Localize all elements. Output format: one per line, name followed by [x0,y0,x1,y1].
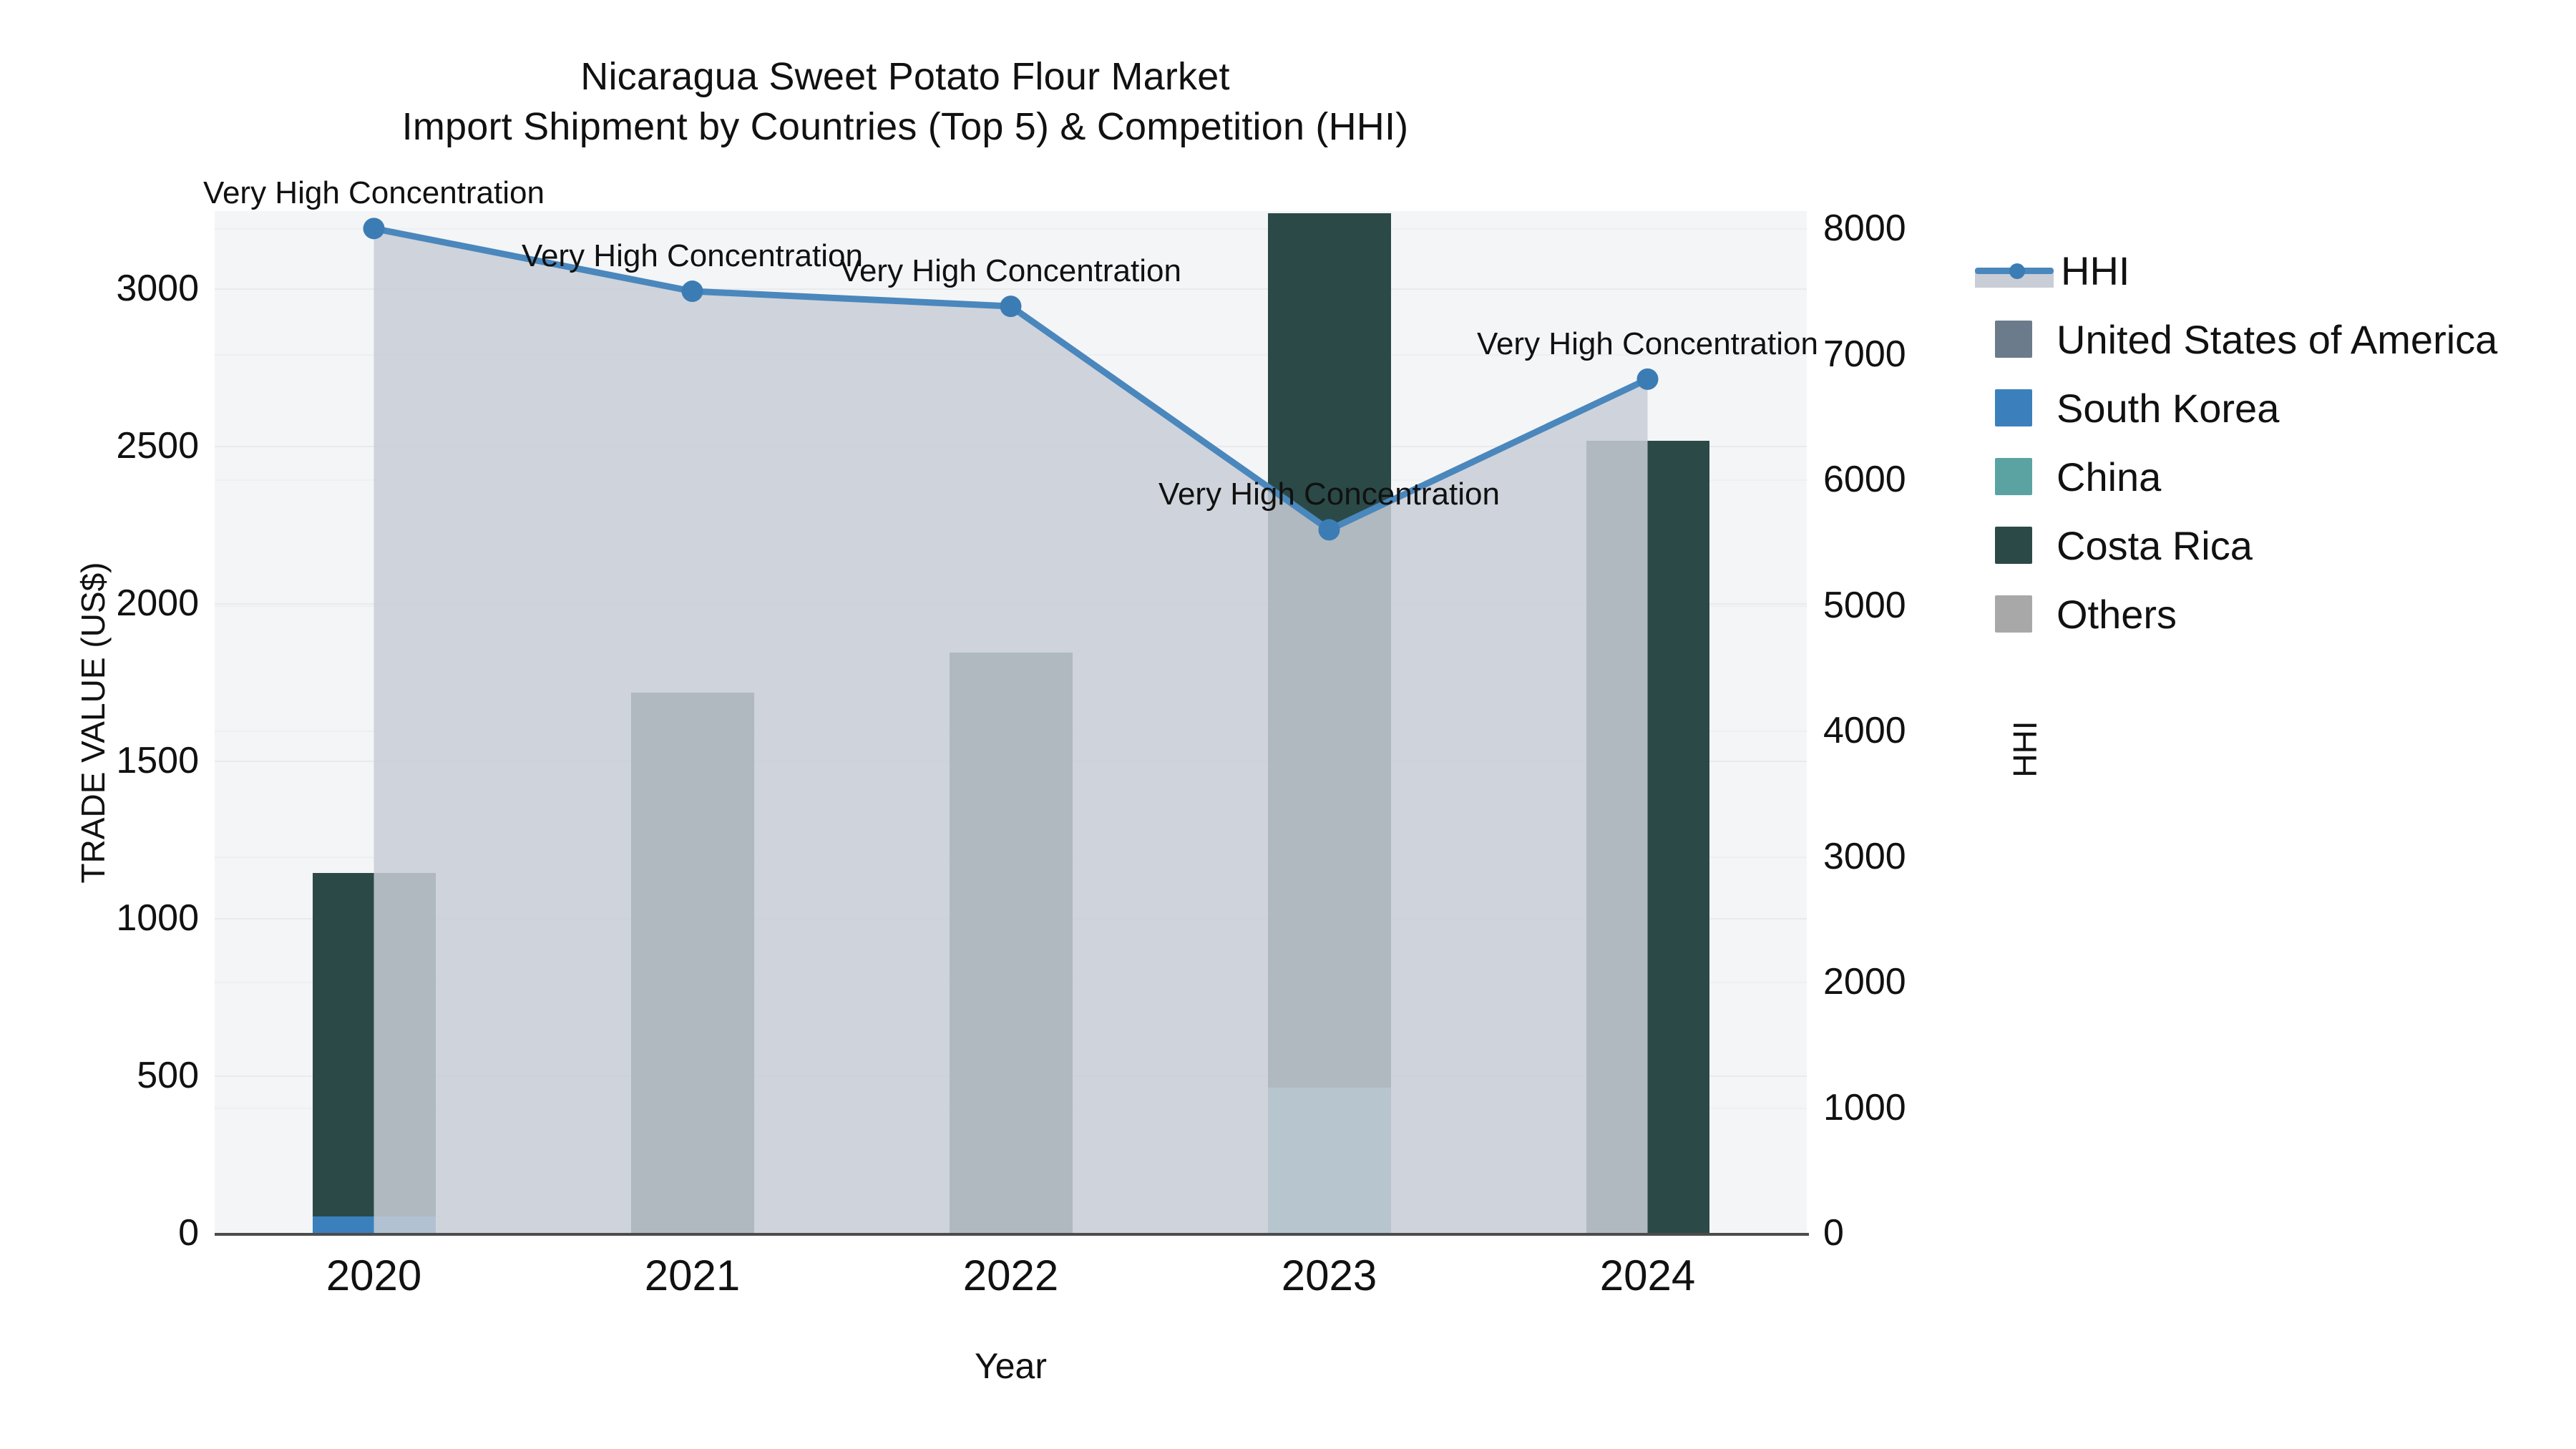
legend-item-label: Others [2057,591,2177,638]
x-axis-title: Year [215,1345,1807,1387]
x-axis-tick-label: 2022 [897,1251,1126,1300]
y-axis-right-tick-label: 2000 [1823,960,1988,1003]
y-axis-right-tick-label: 1000 [1823,1086,1988,1129]
chart-figure: Nicaragua Sweet Potato Flour Market Impo… [0,0,2576,1449]
y-axis-right-title: HHI [2006,642,2044,857]
legend-item[interactable]: China [1975,442,2547,511]
legend-color-swatch [1995,458,2032,495]
y-axis-left-tick-label: 3000 [0,267,199,310]
legend-item-label: Costa Rica [2057,522,2253,569]
legend-item[interactable]: HHI [1975,236,2547,305]
hhi-data-point [1319,519,1340,540]
legend-color-swatch [1995,389,2032,426]
y-axis-right-tick-label: 3000 [1823,835,1988,878]
y-axis-right-tick-label: 5000 [1823,584,1988,627]
x-axis-tick-label: 2023 [1215,1251,1444,1300]
chart-title: Nicaragua Sweet Potato Flour Market Impo… [0,52,1810,152]
hhi-data-point [364,218,385,239]
hhi-area-fill [374,228,1648,1233]
legend-item[interactable]: South Korea [1975,374,2547,442]
legend-item-label: HHI [2061,248,2129,294]
y-axis-right-tick-label: 0 [1823,1211,1988,1254]
chart-title-line-2: Import Shipment by Countries (Top 5) & C… [0,102,1810,152]
x-axis-tick-label: 2024 [1533,1251,1762,1300]
y-axis-left-tick-label: 500 [0,1054,199,1097]
legend-color-swatch [1995,527,2032,564]
hhi-data-point [1000,296,1022,317]
hhi-annotation: Very High Concentration [203,175,545,211]
y-axis-right-tick-label: 6000 [1823,458,1988,501]
legend-item-label: China [2057,454,2161,500]
chart-legend: HHIUnited States of AmericaSouth KoreaCh… [1975,236,2547,648]
legend-item[interactable]: Costa Rica [1975,511,2547,580]
y-axis-left-title: TRADE VALUE (US$) [74,472,112,973]
legend-marker-dot [2009,263,2025,279]
chart-title-line-1: Nicaragua Sweet Potato Flour Market [0,52,1810,102]
legend-item[interactable]: Others [1975,580,2547,648]
legend-item-label: United States of America [2057,316,2497,363]
x-axis-tick-label: 2020 [260,1251,489,1300]
legend-item-label: South Korea [2057,385,2279,431]
hhi-line-series [215,211,1807,1234]
hhi-data-point [682,280,703,302]
y-axis-left-tick-label: 2500 [0,424,199,467]
hhi-annotation: Very High Concentration [522,238,863,274]
y-axis-left-tick-label: 0 [0,1211,199,1254]
y-axis-right-tick-label: 8000 [1823,207,1988,250]
hhi-annotation: Very High Concentration [840,253,1181,289]
legend-item[interactable]: United States of America [1975,305,2547,374]
plot-area: Very High ConcentrationVery High Concent… [215,211,1807,1234]
legend-color-swatch [1995,321,2032,358]
x-axis-tick-label: 2021 [578,1251,807,1300]
y-axis-right-tick-label: 7000 [1823,333,1988,376]
x-axis-line [215,1233,1809,1236]
legend-line-swatch [1975,252,2054,289]
hhi-annotation: Very High Concentration [1477,326,1818,362]
legend-color-swatch [1995,595,2032,633]
hhi-data-point [1637,369,1659,390]
hhi-annotation: Very High Concentration [1158,477,1500,512]
y-axis-right-tick-label: 4000 [1823,709,1988,752]
